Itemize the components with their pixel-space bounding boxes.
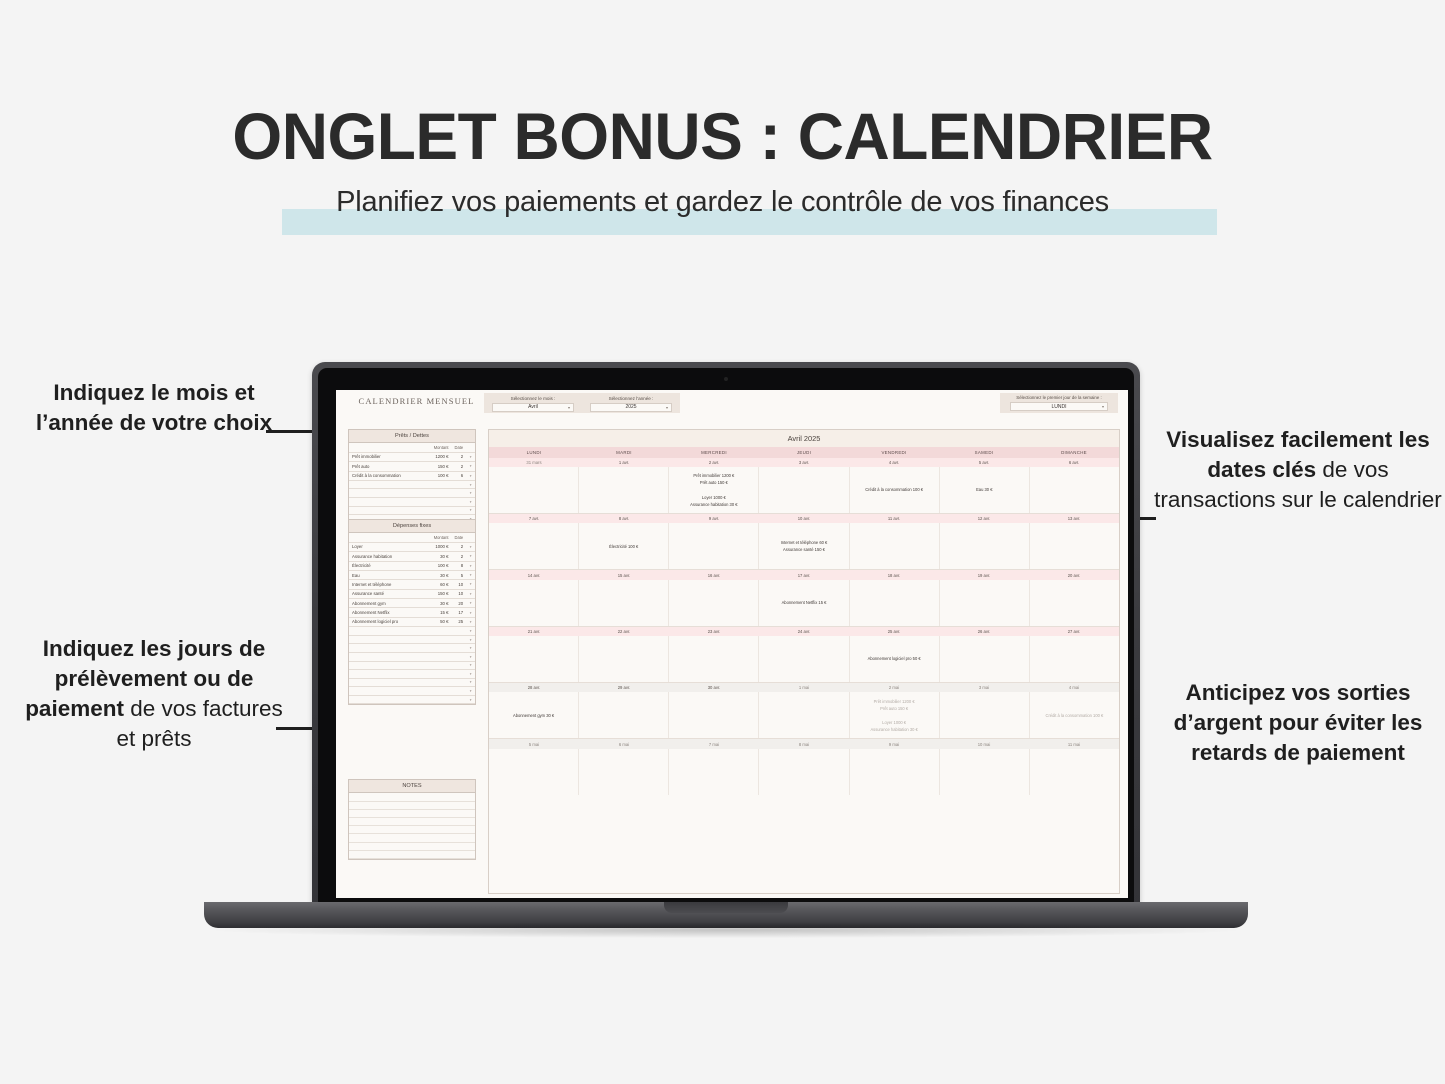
calendar-date-label: 7 mai xyxy=(669,739,759,748)
expense-date: 10 xyxy=(452,580,467,589)
calendar-entry: Eau 30 € xyxy=(976,486,992,493)
calendar-week: 28 avr.29 avr.30 avr.1 mai2 mai3 mai4 ma… xyxy=(489,682,1119,738)
calendar-day-header: VENDREDI xyxy=(849,447,939,457)
spreadsheet-brand-text: CALENDRIER MENSUEL xyxy=(354,396,479,406)
expense-row[interactable]: Électricité100 €8▾ xyxy=(349,561,475,570)
calendar-cell-row: Prêt immobilier 1200 €Prêt auto 150 € Lo… xyxy=(489,467,1119,513)
expense-date: 2 xyxy=(452,552,467,561)
calendar-entry: Prêt auto 150 € xyxy=(880,705,908,712)
calendar-day-header: MERCREDI xyxy=(669,447,759,457)
expense-empty-row[interactable]: ▾ xyxy=(349,652,475,661)
calendar-day-headers: LUNDIMARDIMERCREDIJEUDIVENDREDISAMEDIDIM… xyxy=(489,447,1119,457)
loan-row[interactable]: Prêt auto150 €2▾ xyxy=(349,462,475,471)
year-selector-label: Sélectionnez l'année : xyxy=(582,396,680,401)
expense-label: Assurance santé xyxy=(349,589,424,598)
loan-amount: 100 € xyxy=(424,471,452,480)
webcam-icon xyxy=(724,377,728,381)
calendar-cell[interactable] xyxy=(669,692,759,738)
year-selector-col: Sélectionnez l'année : 2025 ▾ xyxy=(582,396,680,412)
loan-empty-row[interactable]: ▾ xyxy=(349,489,475,498)
calendar-date-label: 5 mai xyxy=(489,739,579,748)
loan-label: Prêt immobilier xyxy=(349,452,424,461)
period-selectors: Sélectionnez le mois : Avril ▾ Sélection… xyxy=(484,393,680,413)
calendar-cell[interactable] xyxy=(669,749,759,795)
fixed-expenses-panel-title: Dépenses fixes xyxy=(349,520,475,533)
calendar-entry: Prêt immobilier 1200 € xyxy=(693,472,734,479)
calendar-cell[interactable] xyxy=(850,580,940,626)
fixed-col-label xyxy=(349,533,424,542)
calendar-date-label: 30 avr. xyxy=(669,683,759,692)
notes-panel-title: NOTES xyxy=(349,780,475,793)
calendar-date-label: 3 avr. xyxy=(759,458,849,467)
loan-date: 6 xyxy=(452,471,467,480)
chevron-down-icon[interactable]: ▾ xyxy=(466,678,475,687)
calendar-cell[interactable] xyxy=(489,636,579,682)
loan-empty-row[interactable]: ▾ xyxy=(349,480,475,489)
chevron-down-icon[interactable]: ▾ xyxy=(466,561,475,570)
month-selector-col: Sélectionnez le mois : Avril ▾ xyxy=(484,396,582,412)
chevron-down-icon[interactable]: ▾ xyxy=(466,652,475,661)
chevron-down-icon[interactable]: ▾ xyxy=(466,627,475,636)
calendar-date-label: 8 avr. xyxy=(579,514,669,523)
calendar-entry: Loyer 1000 € xyxy=(702,494,726,501)
subtitle-wrap: Planifiez vos paiements et gardez le con… xyxy=(0,186,1445,219)
calendar-entry: Assurance habitation 30 € xyxy=(870,726,917,733)
calendar-entry-spacer xyxy=(713,486,714,493)
calendar-cell[interactable] xyxy=(759,636,849,682)
calendar-date-label: 2 mai xyxy=(849,683,939,692)
chevron-down-icon[interactable]: ▾ xyxy=(466,542,475,551)
chevron-down-icon[interactable]: ▾ xyxy=(466,670,475,679)
calendar-cell[interactable]: Prêt immobilier 1200 €Prêt auto 150 € Lo… xyxy=(850,692,940,738)
calendar-week: 31 mars1 avr.2 avr.3 avr.4 avr.5 avr.6 a… xyxy=(489,458,1119,513)
notes-lines[interactable] xyxy=(349,793,475,859)
calendar-date-label: 3 mai xyxy=(939,683,1029,692)
loan-amount: 1200 € xyxy=(424,452,452,461)
calendar-cell[interactable]: Abonnement logiciel pro 50 € xyxy=(850,636,940,682)
calendar-cell-row: Abonnement gym 30 €Prêt immobilier 1200 … xyxy=(489,692,1119,738)
calendar-cell[interactable] xyxy=(759,467,849,513)
expense-amount: 60 € xyxy=(424,580,452,589)
year-select[interactable]: 2025 ▾ xyxy=(590,403,672,412)
month-select[interactable]: Avril ▾ xyxy=(492,403,574,412)
chevron-down-icon[interactable]: ▾ xyxy=(466,506,475,515)
page-root: ONGLET BONUS : CALENDRIER Planifiez vos … xyxy=(0,0,1445,1084)
loans-panel-title: Prêts / Dettes xyxy=(349,430,475,443)
calendar-entry: Abonnement gym 30 € xyxy=(513,712,554,719)
calendar-cell-row xyxy=(489,749,1119,795)
firstday-selector-label: Sélectionnez le premier jour de la semai… xyxy=(1000,395,1118,401)
expense-label: Assurance habitation xyxy=(349,552,424,561)
calendar-date-label: 12 avr. xyxy=(939,514,1029,523)
calendar-date-label: 10 avr. xyxy=(759,514,849,523)
calendar-date-label: 18 avr. xyxy=(849,570,939,579)
calendar-cell[interactable] xyxy=(940,692,1030,738)
expense-date: 17 xyxy=(452,608,467,617)
calendar-cell[interactable] xyxy=(1030,467,1119,513)
chevron-down-icon[interactable]: ▾ xyxy=(466,570,475,579)
expense-row[interactable]: Internet et téléphone60 €10▾ xyxy=(349,580,475,589)
calendar-cell[interactable] xyxy=(489,523,579,569)
laptop-lid: CALENDRIER MENSUEL Sélectionnez le mois … xyxy=(312,362,1140,910)
calendar-date-label: 9 mai xyxy=(849,739,939,748)
annotation-bottom-left: Indiquez les jours de prélèvement ou de … xyxy=(24,634,284,754)
calendar-date-label: 15 avr. xyxy=(579,570,669,579)
page-subtitle: Planifiez vos paiements et gardez le con… xyxy=(336,186,1109,218)
chevron-down-icon[interactable]: ▾ xyxy=(466,589,475,598)
calendar-entry: Abonnement Netflix 15 € xyxy=(782,599,827,606)
calendar-date-label: 11 mai xyxy=(1029,739,1119,748)
calendar-week: 5 mai6 mai7 mai8 mai9 mai10 mai11 mai xyxy=(489,738,1119,794)
calendar-date-label: 9 avr. xyxy=(669,514,759,523)
chevron-down-icon[interactable]: ▾ xyxy=(466,661,475,670)
page-title: ONGLET BONUS : CALENDRIER xyxy=(22,98,1424,174)
chevron-down-icon: ▾ xyxy=(666,405,668,410)
loan-empty-row[interactable]: ▾ xyxy=(349,498,475,507)
fixed-col-amount: Montant xyxy=(424,533,452,542)
fixed-table-body: Loyer1000 €2▾Assurance habitation30 €2▾É… xyxy=(349,542,475,704)
notes-line[interactable] xyxy=(349,826,475,834)
expense-amount: 30 € xyxy=(424,552,452,561)
expense-row[interactable]: Abonnement gym30 €20▾ xyxy=(349,599,475,608)
calendar-cell[interactable] xyxy=(669,523,759,569)
calendar-cell[interactable] xyxy=(489,467,579,513)
calendar-day-header: JEUDI xyxy=(759,447,849,457)
calendar-cell[interactable] xyxy=(579,749,669,795)
loans-table-header: Montant Date xyxy=(349,443,475,452)
calendar-entry: Crédit à la consommation 100 € xyxy=(1046,712,1104,719)
firstday-select[interactable]: LUNDI ▾ xyxy=(1010,402,1108,411)
chevron-down-icon[interactable]: ▾ xyxy=(466,644,475,653)
loan-date: 2 xyxy=(452,462,467,471)
expense-date: 20 xyxy=(452,599,467,608)
loan-amount: 150 € xyxy=(424,462,452,471)
calendar-week: 21 avr.22 avr.23 avr.24 avr.25 avr.26 av… xyxy=(489,626,1119,682)
calendar-cell[interactable] xyxy=(940,636,1030,682)
expense-amount: 100 € xyxy=(424,561,452,570)
chevron-down-icon[interactable]: ▾ xyxy=(466,687,475,696)
calendar-cell-row: Abonnement logiciel pro 50 € xyxy=(489,636,1119,682)
calendar-date-label: 24 avr. xyxy=(759,627,849,636)
annotation-bottom-left-light: de vos factures et prêts xyxy=(116,696,282,751)
calendar-cell[interactable] xyxy=(1030,636,1119,682)
calendar-date-label: 8 mai xyxy=(759,739,849,748)
chevron-down-icon[interactable]: ▾ xyxy=(466,452,475,461)
calendar-cell[interactable]: Crédit à la consommation 100 € xyxy=(1030,692,1119,738)
calendar-cell[interactable] xyxy=(579,692,669,738)
spreadsheet-brand: CALENDRIER MENSUEL xyxy=(354,396,479,406)
calendar-cell[interactable] xyxy=(1030,523,1119,569)
loan-empty-row[interactable]: ▾ xyxy=(349,506,475,515)
calendar-date-row: 28 avr.29 avr.30 avr.1 mai2 mai3 mai4 ma… xyxy=(489,682,1119,692)
calendar-week: 14 avr.15 avr.16 avr.17 avr.18 avr.19 av… xyxy=(489,569,1119,625)
calendar-day-header: MARDI xyxy=(579,447,669,457)
calendar-weeks: 31 mars1 avr.2 avr.3 avr.4 avr.5 avr.6 a… xyxy=(489,458,1119,795)
calendar-day-header: SAMEDI xyxy=(939,447,1029,457)
chevron-down-icon[interactable]: ▾ xyxy=(466,498,475,507)
calendar-entry: Prêt immobilier 1200 € xyxy=(874,698,915,705)
chevron-down-icon[interactable]: ▾ xyxy=(466,695,475,704)
expense-empty-row[interactable]: ▾ xyxy=(349,635,475,644)
calendar-cell[interactable]: Abonnement gym 30 € xyxy=(489,692,579,738)
calendar-title: Avril 2025 xyxy=(489,430,1119,447)
firstday-select-value: LUNDI xyxy=(1051,404,1066,410)
expense-empty-row[interactable]: ▾ xyxy=(349,670,475,679)
chevron-down-icon[interactable]: ▾ xyxy=(466,617,475,626)
calendar-date-label: 1 avr. xyxy=(579,458,669,467)
notes-line[interactable] xyxy=(349,843,475,851)
expense-amount: 30 € xyxy=(424,599,452,608)
calendar-cell[interactable] xyxy=(850,749,940,795)
calendar-cell[interactable]: Internet et téléphone 60 €Assurance sant… xyxy=(759,523,849,569)
fixed-col-date: Date xyxy=(452,533,467,542)
annotation-bottom-right: Anticipez vos sorties d’argent pour évit… xyxy=(1152,678,1444,768)
expense-label: Électricité xyxy=(349,561,424,570)
expense-amount: 50 € xyxy=(424,617,452,626)
calendar-week: 7 avr.8 avr.9 avr.10 avr.11 avr.12 avr.1… xyxy=(489,513,1119,569)
calendar-cell[interactable] xyxy=(759,692,849,738)
loans-col-date: Date xyxy=(452,443,467,452)
calendar-cell[interactable] xyxy=(579,467,669,513)
expense-label: Abonnement gym xyxy=(349,599,424,608)
loans-panel: Prêts / Dettes Montant Date Prêt immobil… xyxy=(348,429,476,525)
calendar-date-label: 11 avr. xyxy=(849,514,939,523)
month-select-value: Avril xyxy=(528,404,538,410)
calendar-date-label: 10 mai xyxy=(939,739,1029,748)
annotation-top-right: Visualisez facilement les dates clés de … xyxy=(1152,425,1444,515)
chevron-down-icon[interactable]: ▾ xyxy=(466,462,475,471)
notes-panel: NOTES xyxy=(348,779,476,860)
calendar-cell[interactable] xyxy=(579,580,669,626)
chevron-down-icon[interactable]: ▾ xyxy=(466,471,475,480)
loan-row[interactable]: Prêt immobilier1200 €2▾ xyxy=(349,452,475,461)
calendar-cell[interactable]: Abonnement Netflix 15 € xyxy=(759,580,849,626)
laptop-bezel: CALENDRIER MENSUEL Sélectionnez le mois … xyxy=(318,368,1134,904)
expense-label: Loyer xyxy=(349,542,424,551)
chevron-down-icon: ▾ xyxy=(568,405,570,410)
annotation-top-left: Indiquez le mois et l’année de votre cho… xyxy=(24,378,284,438)
laptop-mockup: CALENDRIER MENSUEL Sélectionnez le mois … xyxy=(312,362,1140,922)
calendar-date-label: 27 avr. xyxy=(1029,627,1119,636)
calendar-cell[interactable] xyxy=(1030,580,1119,626)
calendar-entry: Assurance habitation 30 € xyxy=(690,501,737,508)
calendar: Avril 2025 LUNDIMARDIMERCREDIJEUDIVENDRE… xyxy=(488,429,1120,894)
expense-row[interactable]: Abonnement Netflix15 €17▾ xyxy=(349,608,475,617)
calendar-date-label: 6 avr. xyxy=(1029,458,1119,467)
chevron-down-icon: ▾ xyxy=(1102,404,1104,409)
expense-amount: 15 € xyxy=(424,608,452,617)
calendar-date-label: 17 avr. xyxy=(759,570,849,579)
chevron-down-icon[interactable]: ▾ xyxy=(466,489,475,498)
laptop-shadow xyxy=(216,922,1236,938)
fixed-table-header: Montant Date xyxy=(349,533,475,542)
expense-amount: 1000 € xyxy=(424,542,452,551)
calendar-cell[interactable] xyxy=(940,580,1030,626)
loans-col-label xyxy=(349,443,424,452)
calendar-date-label: 2 avr. xyxy=(669,458,759,467)
notes-line[interactable] xyxy=(349,834,475,842)
calendar-date-label: 21 avr. xyxy=(489,627,579,636)
calendar-date-label: 20 avr. xyxy=(1029,570,1119,579)
calendar-date-label: 4 avr. xyxy=(849,458,939,467)
calendar-date-label: 19 avr. xyxy=(939,570,1029,579)
calendar-date-label: 4 mai xyxy=(1029,683,1119,692)
notes-line[interactable] xyxy=(349,851,475,859)
annotation-bottom-right-bold: Anticipez vos sorties d’argent pour évit… xyxy=(1174,680,1423,765)
calendar-entry-spacer xyxy=(894,712,895,719)
calendar-entry: Internet et téléphone 60 € xyxy=(781,539,828,546)
calendar-date-label: 14 avr. xyxy=(489,570,579,579)
notes-line[interactable] xyxy=(349,802,475,810)
expense-empty-row[interactable]: ▾ xyxy=(349,644,475,653)
loan-date: 2 xyxy=(452,452,467,461)
calendar-cell[interactable] xyxy=(669,636,759,682)
notes-line[interactable] xyxy=(349,818,475,826)
calendar-cell[interactable] xyxy=(940,523,1030,569)
calendar-date-label: 25 avr. xyxy=(849,627,939,636)
calendar-date-label: 29 avr. xyxy=(579,683,669,692)
month-selector-label: Sélectionnez le mois : xyxy=(484,396,582,401)
calendar-cell[interactable]: Électricité 100 € xyxy=(579,523,669,569)
calendar-cell[interactable]: Crédit à la consommation 100 € xyxy=(850,467,940,513)
expense-row[interactable]: Abonnement logiciel pro50 €25▾ xyxy=(349,617,475,626)
calendar-cell[interactable] xyxy=(489,580,579,626)
calendar-cell[interactable]: Prêt immobilier 1200 €Prêt auto 150 € Lo… xyxy=(669,467,759,513)
fixed-expenses-table: Montant Date Loyer1000 €2▾Assurance habi… xyxy=(349,533,475,704)
calendar-date-row: 7 avr.8 avr.9 avr.10 avr.11 avr.12 avr.1… xyxy=(489,513,1119,523)
calendar-cell-row: Abonnement Netflix 15 € xyxy=(489,580,1119,626)
calendar-day-header: LUNDI xyxy=(489,447,579,457)
chevron-down-icon[interactable]: ▾ xyxy=(466,480,475,489)
expense-date: 2 xyxy=(452,542,467,551)
calendar-date-label: 1 mai xyxy=(759,683,849,692)
calendar-date-row: 14 avr.15 avr.16 avr.17 avr.18 avr.19 av… xyxy=(489,569,1119,579)
expense-amount: 150 € xyxy=(424,589,452,598)
expense-empty-row[interactable]: ▾ xyxy=(349,661,475,670)
loans-table: Montant Date Prêt immobilier1200 €2▾Prêt… xyxy=(349,443,475,523)
firstday-selector: Sélectionnez le premier jour de la semai… xyxy=(1000,393,1118,413)
calendar-date-row: 21 avr.22 avr.23 avr.24 avr.25 avr.26 av… xyxy=(489,626,1119,636)
calendar-date-label: 23 avr. xyxy=(669,627,759,636)
calendar-cell[interactable] xyxy=(759,749,849,795)
calendar-cell[interactable] xyxy=(669,580,759,626)
expense-row[interactable]: Eau30 €5▾ xyxy=(349,570,475,579)
expense-label: Abonnement logiciel pro xyxy=(349,617,424,626)
calendar-date-label: 16 avr. xyxy=(669,570,759,579)
laptop-screen: CALENDRIER MENSUEL Sélectionnez le mois … xyxy=(336,390,1128,898)
calendar-entry: Crédit à la consommation 100 € xyxy=(865,486,923,493)
calendar-entry: Abonnement logiciel pro 50 € xyxy=(868,655,921,662)
expense-date: 8 xyxy=(452,561,467,570)
calendar-entry: Assurance santé 150 € xyxy=(783,546,825,553)
expense-date: 5 xyxy=(452,570,467,579)
chevron-down-icon[interactable]: ▾ xyxy=(466,608,475,617)
calendar-cell[interactable] xyxy=(579,636,669,682)
loan-row[interactable]: Crédit à la consommation100 €6▾ xyxy=(349,471,475,480)
calendar-cell[interactable]: Eau 30 € xyxy=(940,467,1030,513)
calendar-date-label: 7 avr. xyxy=(489,514,579,523)
chevron-down-icon[interactable]: ▾ xyxy=(466,580,475,589)
loans-col-amount: Montant xyxy=(424,443,452,452)
expense-empty-row[interactable]: ▾ xyxy=(349,695,475,704)
fixed-expenses-panel: Dépenses fixes Montant Date Loyer1000 €2… xyxy=(348,519,476,705)
calendar-date-label: 13 avr. xyxy=(1029,514,1119,523)
expense-date: 25 xyxy=(452,617,467,626)
loans-table-body: Prêt immobilier1200 €2▾Prêt auto150 €2▾C… xyxy=(349,452,475,523)
calendar-cell[interactable] xyxy=(1030,749,1119,795)
expense-empty-row[interactable]: ▾ xyxy=(349,687,475,696)
expense-row[interactable]: Loyer1000 €2▾ xyxy=(349,542,475,551)
chevron-down-icon[interactable]: ▾ xyxy=(466,635,475,644)
notes-line[interactable] xyxy=(349,810,475,818)
calendar-entry: Loyer 1000 € xyxy=(882,719,906,726)
expense-row[interactable]: Assurance habitation30 €2▾ xyxy=(349,552,475,561)
calendar-entry: Prêt auto 150 € xyxy=(700,479,728,486)
notes-line[interactable] xyxy=(349,793,475,801)
annotation-top-left-bold: Indiquez le mois et l’année de votre cho… xyxy=(36,380,272,435)
loan-label: Crédit à la consommation xyxy=(349,471,424,480)
calendar-date-label: 5 avr. xyxy=(939,458,1029,467)
expense-amount: 30 € xyxy=(424,570,452,579)
expense-date: 10 xyxy=(452,589,467,598)
calendar-cell[interactable] xyxy=(489,749,579,795)
spreadsheet: CALENDRIER MENSUEL Sélectionnez le mois … xyxy=(336,390,1128,898)
calendar-date-label: 26 avr. xyxy=(939,627,1029,636)
annotation-top-right-bold: Visualisez facilement les dates clés xyxy=(1166,427,1429,482)
calendar-date-row: 31 mars1 avr.2 avr.3 avr.4 avr.5 avr.6 a… xyxy=(489,458,1119,467)
calendar-date-label: 22 avr. xyxy=(579,627,669,636)
calendar-date-label: 28 avr. xyxy=(489,683,579,692)
loan-label: Prêt auto xyxy=(349,462,424,471)
calendar-day-header: DIMANCHE xyxy=(1029,447,1119,457)
year-select-value: 2025 xyxy=(625,404,636,410)
calendar-cell[interactable] xyxy=(940,749,1030,795)
expense-label: Eau xyxy=(349,570,424,579)
calendar-cell[interactable] xyxy=(850,523,940,569)
expense-label: Internet et téléphone xyxy=(349,580,424,589)
calendar-date-row: 5 mai6 mai7 mai8 mai9 mai10 mai11 mai xyxy=(489,738,1119,748)
expense-empty-row[interactable]: ▾ xyxy=(349,627,475,636)
expense-label: Abonnement Netflix xyxy=(349,608,424,617)
chevron-down-icon[interactable]: ▾ xyxy=(466,599,475,608)
expense-empty-row[interactable]: ▾ xyxy=(349,678,475,687)
chevron-down-icon[interactable]: ▾ xyxy=(466,552,475,561)
calendar-cell-row: Électricité 100 €Internet et téléphone 6… xyxy=(489,523,1119,569)
calendar-date-label: 31 mars xyxy=(489,458,579,467)
calendar-date-label: 6 mai xyxy=(579,739,669,748)
expense-row[interactable]: Assurance santé150 €10▾ xyxy=(349,589,475,598)
calendar-entry: Électricité 100 € xyxy=(609,543,638,550)
